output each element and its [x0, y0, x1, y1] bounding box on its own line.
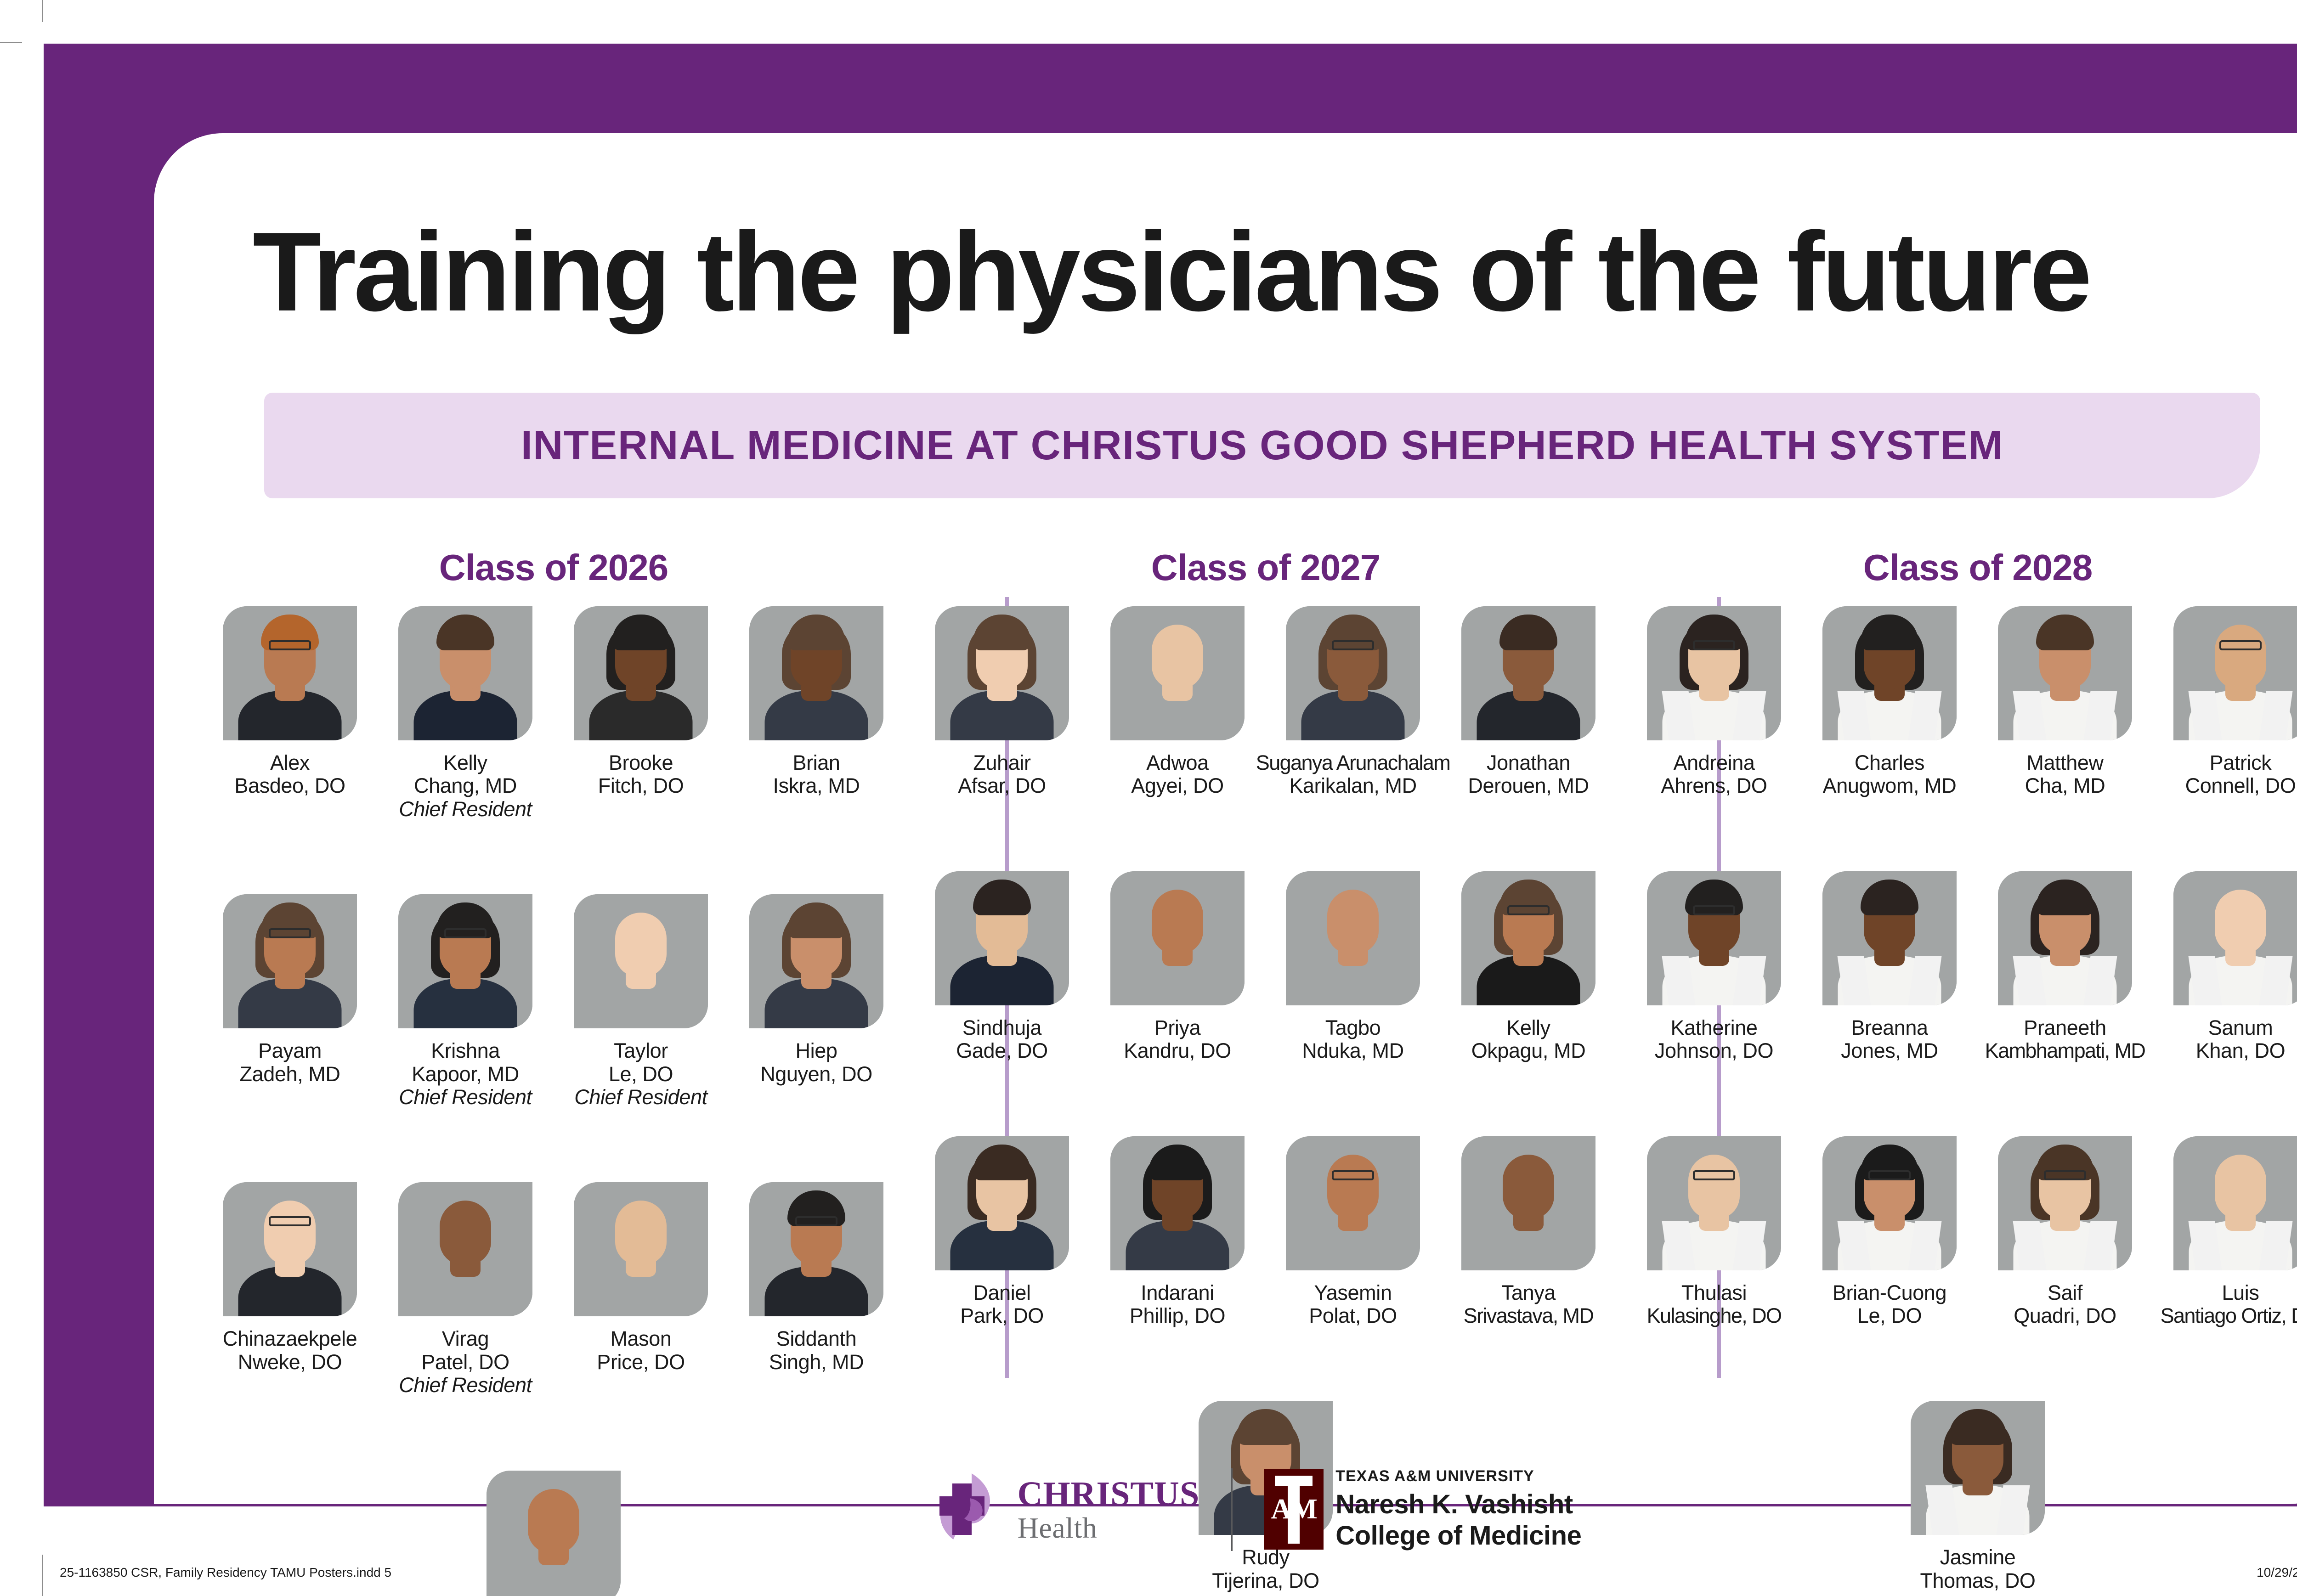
- print-sheet: 00-000000 Training the physicians of the…: [0, 0, 2297, 1596]
- headshot-photo: [1647, 606, 1781, 740]
- resident-first-name: Krishna: [399, 1039, 532, 1062]
- resident-name: SaifQuadri, DO: [2014, 1281, 2116, 1328]
- headshot-photo: [2173, 1136, 2297, 1270]
- resident-first-name: Andreina: [1661, 751, 1767, 774]
- resident-card: SiddanthSingh, MD: [729, 1182, 904, 1397]
- resident-first-name: Virag: [399, 1327, 532, 1350]
- resident-first-name: Suganya Arunachalam: [1256, 751, 1450, 774]
- row-spacer: [1626, 798, 2297, 871]
- resident-first-name: Zuhair: [958, 751, 1046, 774]
- resident-first-name: Tanya: [1464, 1281, 1594, 1304]
- headshot-photo: [935, 606, 1069, 740]
- resident-first-name: Taylor: [574, 1039, 707, 1062]
- resident-name: LuisSantiago Ortiz, DO: [2161, 1281, 2297, 1328]
- resident-card: MatthewCha, MD: [1977, 606, 2153, 798]
- resident-first-name: Tagbo: [1302, 1016, 1403, 1039]
- subtitle-band: INTERNAL MEDICINE AT CHRISTUS GOOD SHEPH…: [264, 393, 2260, 498]
- resident-card: LuisSantiago Ortiz, DO: [2153, 1136, 2297, 1328]
- resident-row: AndreinaAhrens, DOCharlesAnugwom, MDMatt…: [1626, 606, 2297, 798]
- resident-first-name: Adwoa: [1131, 751, 1223, 774]
- resident-last-name: Gade, DO: [956, 1039, 1047, 1062]
- texas-am-college-of-medicine-logo: AM TEXAS A&M UNIVERSITY Naresh K. Vashis…: [1264, 1467, 1581, 1552]
- tamu-college-line-2: College of Medicine: [1335, 1520, 1581, 1551]
- resident-name: SanumKhan, DO: [2196, 1016, 2285, 1063]
- headshot-photo: [749, 894, 883, 1028]
- subtitle-text: INTERNAL MEDICINE AT CHRISTUS GOOD SHEPH…: [521, 422, 2003, 469]
- row-spacer: [914, 1063, 1617, 1136]
- row-spacer: [914, 798, 1617, 871]
- resident-card: AdwoaAgyei, DO: [1090, 606, 1265, 798]
- logo-divider: [1231, 1468, 1233, 1551]
- resident-last-name: Fitch, DO: [598, 774, 684, 797]
- resident-name: IndaraniPhillip, DO: [1130, 1281, 1225, 1328]
- headshot-photo: [223, 606, 357, 740]
- resident-last-name: Nduka, MD: [1302, 1039, 1403, 1062]
- resident-card: AlexBasdeo, DO: [202, 606, 378, 821]
- resident-name: YaseminPolat, DO: [1309, 1281, 1397, 1328]
- resident-name: AlexBasdeo, DO: [234, 751, 345, 798]
- headshot-photo: [1822, 1136, 1957, 1270]
- row-spacer: [202, 1109, 905, 1182]
- resident-card: MasonPrice, DO: [553, 1182, 729, 1397]
- resident-card: SindhujaGade, DO: [914, 871, 1090, 1063]
- resident-last-name: Okpagu, MD: [1471, 1039, 1586, 1062]
- resident-card: ThulasiKulasinghe, DO: [1626, 1136, 1802, 1328]
- resident-name: TanyaSrivastava, MD: [1464, 1281, 1594, 1328]
- resident-last-name: Patel, DO: [399, 1351, 532, 1374]
- resident-last-name: Kandru, DO: [1124, 1039, 1231, 1062]
- resident-first-name: Saif: [2014, 1281, 2116, 1304]
- resident-last-name: Chang, MD: [399, 774, 532, 797]
- resident-name: Suganya ArunachalamKarikalan, MD: [1256, 751, 1450, 798]
- tamu-atm-icon: AM: [1264, 1469, 1324, 1550]
- resident-name: MatthewCha, MD: [2025, 751, 2105, 798]
- resident-last-name: Iskra, MD: [773, 774, 860, 797]
- resident-last-name: Price, DO: [597, 1351, 685, 1374]
- resident-last-name: Le, DO: [1833, 1304, 1946, 1327]
- resident-card: PayamZadeh, MD: [202, 894, 378, 1109]
- resident-last-name: Derouen, MD: [1468, 774, 1589, 797]
- resident-card: ChinazaekpeleNweke, DO: [202, 1182, 378, 1397]
- headshot-photo: [1286, 606, 1420, 740]
- christus-sub: Health: [1018, 1513, 1200, 1543]
- resident-name: KatherineJohnson, DO: [1655, 1016, 1773, 1063]
- headshot-photo: [1822, 606, 1957, 740]
- resident-last-name: Ahrens, DO: [1661, 774, 1767, 797]
- headshot-photo: [749, 1182, 883, 1316]
- resident-last-name: Zadeh, MD: [240, 1063, 340, 1086]
- tamu-atm-letters: AM: [1271, 1493, 1317, 1526]
- headshot-photo: [574, 894, 708, 1028]
- resident-last-name: Singh, MD: [769, 1351, 864, 1374]
- chief-resident-label: Chief Resident: [399, 1374, 532, 1397]
- resident-name: PriyaKandru, DO: [1124, 1016, 1231, 1063]
- resident-name: BrianIskra, MD: [773, 751, 860, 798]
- resident-last-name: Tijerina, DO: [1212, 1569, 1319, 1592]
- resident-last-name: Connell, DO: [2185, 774, 2296, 797]
- resident-last-name: Kambhampati, MD: [1985, 1039, 2145, 1062]
- headshot-photo: [1998, 1136, 2132, 1270]
- christus-name: CHRISTUS: [1018, 1477, 1200, 1511]
- headshot-photo: [398, 894, 532, 1028]
- resident-first-name: Patrick: [2185, 751, 2296, 774]
- resident-row: ZuhairAfsar, DOAdwoaAgyei, DOSuganya Aru…: [914, 606, 1617, 798]
- resident-first-name: Daniel: [960, 1281, 1044, 1304]
- tamu-wordmark: TEXAS A&M UNIVERSITY Naresh K. Vashisht …: [1335, 1467, 1581, 1552]
- resident-row: SindhujaGade, DOPriyaKandru, DOTagboNduk…: [914, 871, 1617, 1063]
- sheet-footer-timestamp: 10/29/25 11:39 AM: [2257, 1565, 2297, 1580]
- row-spacer: [914, 1327, 1617, 1401]
- resident-card: YaseminPolat, DO: [1265, 1136, 1441, 1328]
- resident-first-name: Sanum: [2196, 1016, 2285, 1039]
- resident-name: TagboNduka, MD: [1302, 1016, 1403, 1063]
- resident-first-name: Thulasi: [1647, 1281, 1782, 1304]
- resident-row: AlexBasdeo, DOKellyChang, MDChief Reside…: [202, 606, 905, 821]
- resident-first-name: Brooke: [598, 751, 684, 774]
- resident-card: TagboNduka, MD: [1265, 871, 1441, 1063]
- resident-last-name: Basdeo, DO: [234, 774, 345, 797]
- row-spacer: [202, 1397, 905, 1471]
- resident-card: SanumKhan, DO: [2153, 871, 2297, 1063]
- resident-name: BrookeFitch, DO: [598, 751, 684, 798]
- headshot-photo: [1461, 606, 1595, 740]
- resident-name: SiddanthSingh, MD: [769, 1327, 864, 1374]
- resident-first-name: Breanna: [1841, 1016, 1938, 1039]
- resident-name: JonathanDerouen, MD: [1468, 751, 1589, 798]
- resident-name: ZuhairAfsar, DO: [958, 751, 1046, 798]
- christus-wordmark: CHRISTUS Health: [1018, 1477, 1200, 1543]
- resident-name: DanielPark, DO: [960, 1281, 1044, 1328]
- resident-name: KellyOkpagu, MD: [1471, 1016, 1586, 1063]
- headshot-photo: [1110, 606, 1245, 740]
- resident-first-name: Kelly: [1471, 1016, 1586, 1039]
- headshot-photo: [1647, 1136, 1781, 1270]
- headshot-photo: [935, 1136, 1069, 1270]
- resident-row: PayamZadeh, MDKrishnaKapoor, MDChief Res…: [202, 894, 905, 1109]
- class-heading: Class of 2027: [914, 547, 1617, 589]
- resident-card: Suganya ArunachalamKarikalan, MD: [1265, 606, 1441, 798]
- resident-card: BrianIskra, MD: [729, 606, 904, 821]
- resident-last-name: Park, DO: [960, 1304, 1044, 1327]
- resident-first-name: Matthew: [2025, 751, 2105, 774]
- resident-name: PraneethKambhampati, MD: [1985, 1016, 2145, 1063]
- resident-name: BreannaJones, MD: [1841, 1016, 1938, 1063]
- resident-name: Brian-CuongLe, DO: [1833, 1281, 1946, 1328]
- resident-card: TanyaSrivastava, MD: [1441, 1136, 1616, 1328]
- headshot-photo: [2173, 606, 2297, 740]
- headshot-photo: [398, 1182, 532, 1316]
- resident-card: KatherineJohnson, DO: [1626, 871, 1802, 1063]
- resident-last-name: Nguyen, DO: [760, 1063, 872, 1086]
- headshot-photo: [223, 894, 357, 1028]
- crop-mark-top-left-h: [0, 42, 22, 43]
- resident-name: CharlesAnugwom, MD: [1823, 751, 1957, 798]
- headshot-photo: [749, 606, 883, 740]
- logo-row: CHRISTUS Health AM TEXAS A&M UNIVERSITY …: [154, 1467, 2297, 1552]
- resident-card: AndreinaAhrens, DO: [1626, 606, 1802, 798]
- resident-last-name: Thomas, DO: [1920, 1569, 2035, 1592]
- resident-first-name: Charles: [1823, 751, 1957, 774]
- resident-card: TaylorLe, DOChief Resident: [553, 894, 729, 1109]
- resident-last-name: Afsar, DO: [958, 774, 1046, 797]
- resident-row: DanielPark, DOIndaraniPhillip, DOYasemin…: [914, 1136, 1617, 1328]
- resident-name: KellyChang, MDChief Resident: [399, 751, 532, 821]
- resident-first-name: Praneeth: [1985, 1016, 2145, 1039]
- class-column-2027: Class of 2027 ZuhairAfsar, DOAdwoaAgyei,…: [914, 547, 1617, 1592]
- resident-row: KatherineJohnson, DOBreannaJones, MDPran…: [1626, 871, 2297, 1063]
- resident-last-name: Kapoor, MD: [399, 1063, 532, 1086]
- headshot-photo: [1110, 871, 1245, 1005]
- resident-last-name: Santiago Ortiz, DO: [2161, 1304, 2297, 1327]
- resident-first-name: Sindhuja: [956, 1016, 1047, 1039]
- resident-card: PraneethKambhampati, MD: [1977, 871, 2153, 1063]
- class-column-2026: Class of 2026 AlexBasdeo, DOKellyChang, …: [202, 547, 905, 1596]
- resident-card: IndaraniPhillip, DO: [1090, 1136, 1265, 1328]
- resident-name: KrishnaKapoor, MDChief Resident: [399, 1039, 532, 1109]
- resident-name: TaylorLe, DOChief Resident: [574, 1039, 707, 1109]
- resident-card: SaifQuadri, DO: [1977, 1136, 2153, 1328]
- resident-first-name: Brian-Cuong: [1833, 1281, 1946, 1304]
- resident-last-name: Nweke, DO: [223, 1351, 357, 1374]
- headshot-photo: [574, 606, 708, 740]
- resident-name: ViragPatel, DOChief Resident: [399, 1327, 532, 1397]
- headshot-photo: [574, 1182, 708, 1316]
- headshot-photo: [1461, 1136, 1595, 1270]
- headshot-photo: [1286, 871, 1420, 1005]
- resident-first-name: Hiep: [760, 1039, 872, 1062]
- headshot-photo: [1822, 871, 1957, 1005]
- headshot-photo: [2173, 871, 2297, 1005]
- resident-first-name: Kelly: [399, 751, 532, 774]
- resident-first-name: Mason: [597, 1327, 685, 1350]
- crop-mark-bottom-left-v: [42, 1555, 43, 1596]
- headshot-photo: [1286, 1136, 1420, 1270]
- resident-last-name: Srivastava, MD: [1464, 1304, 1594, 1327]
- resident-last-name: Anugwom, MD: [1823, 774, 1957, 797]
- resident-last-name: Khan, DO: [2196, 1039, 2285, 1062]
- resident-name: MasonPrice, DO: [597, 1327, 685, 1374]
- resident-name: SindhujaGade, DO: [956, 1016, 1047, 1063]
- headshot-photo: [1998, 871, 2132, 1005]
- poster-card: Training the physicians of the future IN…: [154, 133, 2297, 1504]
- resident-last-name: Phillip, DO: [1130, 1304, 1225, 1327]
- resident-card: PriyaKandru, DO: [1090, 871, 1265, 1063]
- class-column-2028: Class of 2028 AndreinaAhrens, DOCharlesA…: [1626, 547, 2297, 1592]
- resident-name: AndreinaAhrens, DO: [1661, 751, 1767, 798]
- headshot-photo: [935, 871, 1069, 1005]
- christus-cross-icon: [929, 1471, 1007, 1549]
- resident-first-name: Indarani: [1130, 1281, 1225, 1304]
- resident-first-name: Katherine: [1655, 1016, 1773, 1039]
- chief-resident-label: Chief Resident: [574, 1086, 707, 1109]
- crop-mark-top-left-v: [42, 0, 43, 22]
- resident-first-name: Siddanth: [769, 1327, 864, 1350]
- resident-last-name: Agyei, DO: [1131, 774, 1223, 797]
- christus-health-logo: CHRISTUS Health: [929, 1471, 1200, 1549]
- resident-name: PatrickConnell, DO: [2185, 751, 2296, 798]
- row-spacer: [202, 821, 905, 894]
- resident-card: ZuhairAfsar, DO: [914, 606, 1090, 798]
- headshot-photo: [1110, 1136, 1245, 1270]
- sheet-footer-filename: 25-1163850 CSR, Family Residency TAMU Po…: [60, 1565, 391, 1580]
- chief-resident-label: Chief Resident: [399, 798, 532, 821]
- resident-name: ThulasiKulasinghe, DO: [1647, 1281, 1782, 1328]
- poster-background: 00-000000 Training the physicians of the…: [44, 44, 2297, 1506]
- resident-name: HiepNguyen, DO: [760, 1039, 872, 1086]
- resident-card: CharlesAnugwom, MD: [1802, 606, 1977, 798]
- resident-first-name: Luis: [2161, 1281, 2297, 1304]
- class-columns: Class of 2026 AlexBasdeo, DOKellyChang, …: [154, 547, 2297, 1419]
- resident-last-name: Le, DO: [574, 1063, 707, 1086]
- resident-card: BreannaJones, MD: [1802, 871, 1977, 1063]
- resident-first-name: Chinazaekpele: [223, 1327, 357, 1350]
- resident-card: DanielPark, DO: [914, 1136, 1090, 1328]
- resident-name: PayamZadeh, MD: [240, 1039, 340, 1086]
- resident-name: AdwoaAgyei, DO: [1131, 751, 1223, 798]
- resident-name: RudyTijerina, DO: [1212, 1546, 1319, 1592]
- headshot-photo: [1647, 871, 1781, 1005]
- resident-last-name: Quadri, DO: [2014, 1304, 2116, 1327]
- resident-last-name: Jones, MD: [1841, 1039, 1938, 1062]
- headshot-photo: [398, 606, 532, 740]
- resident-first-name: Payam: [240, 1039, 340, 1062]
- resident-row: ThulasiKulasinghe, DOBrian-CuongLe, DOSa…: [1626, 1136, 2297, 1328]
- resident-last-name: Karikalan, MD: [1256, 774, 1450, 797]
- resident-card: KrishnaKapoor, MDChief Resident: [378, 894, 553, 1109]
- resident-first-name: Priya: [1124, 1016, 1231, 1039]
- resident-name: JasmineThomas, DO: [1920, 1546, 2035, 1592]
- resident-row: ChinazaekpeleNweke, DOViragPatel, DOChie…: [202, 1182, 905, 1397]
- row-spacer: [1626, 1327, 2297, 1401]
- resident-first-name: Yasemin: [1309, 1281, 1397, 1304]
- resident-card: HiepNguyen, DO: [729, 894, 904, 1109]
- headshot-photo: [223, 1182, 357, 1316]
- page-title: Training the physicians of the future: [253, 207, 2274, 336]
- resident-card: KellyChang, MDChief Resident: [378, 606, 553, 821]
- resident-first-name: Jonathan: [1468, 751, 1589, 774]
- class-heading: Class of 2026: [202, 547, 905, 589]
- row-spacer: [1626, 1063, 2297, 1136]
- resident-card: PatrickConnell, DO: [2153, 606, 2297, 798]
- resident-card: Brian-CuongLe, DO: [1802, 1136, 1977, 1328]
- class-heading: Class of 2028: [1626, 547, 2297, 589]
- headshot-photo: [1998, 606, 2132, 740]
- resident-first-name: Brian: [773, 751, 860, 774]
- resident-card: BrookeFitch, DO: [553, 606, 729, 821]
- tamu-college-line-1: Naresh K. Vashisht: [1335, 1489, 1581, 1520]
- resident-first-name: Alex: [234, 751, 345, 774]
- resident-last-name: Kulasinghe, DO: [1647, 1304, 1782, 1327]
- resident-last-name: Polat, DO: [1309, 1304, 1397, 1327]
- resident-card: KellyOkpagu, MD: [1441, 871, 1616, 1063]
- chief-resident-label: Chief Resident: [399, 1086, 532, 1109]
- resident-last-name: Cha, MD: [2025, 774, 2105, 797]
- headshot-photo: [1461, 871, 1595, 1005]
- resident-last-name: Johnson, DO: [1655, 1039, 1773, 1062]
- resident-card: ViragPatel, DOChief Resident: [378, 1182, 553, 1397]
- resident-name: ChinazaekpeleNweke, DO: [223, 1327, 357, 1374]
- tamu-university-line: TEXAS A&M UNIVERSITY: [1335, 1467, 1581, 1485]
- resident-card: JonathanDerouen, MD: [1441, 606, 1616, 798]
